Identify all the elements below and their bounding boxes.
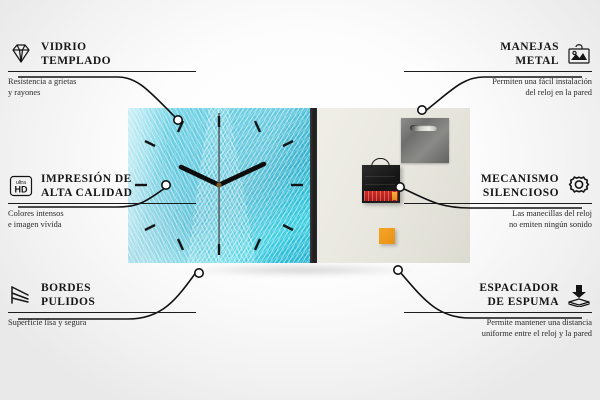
feature-title: ESPACIADOR DE ESPUMA <box>479 281 559 309</box>
feature-manejas-metal: MANEJAS METAL Permiten una fácil instala… <box>404 40 592 98</box>
feature-description: Colores intensos e imagen vívida <box>8 208 196 230</box>
diamond-icon <box>8 42 34 66</box>
ultra-hd-icon: ultra HD <box>8 174 34 198</box>
feature-description: Resistencia a grietas y rayones <box>8 76 196 98</box>
feature-description: Permite mantener una distancia uniforme … <box>404 317 592 339</box>
feature-head: MECANISMO SILENCIOSO <box>404 172 592 200</box>
feature-head: ESPACIADOR DE ESPUMA <box>404 281 592 309</box>
feature-title: IMPRESIÓN DE ALTA CALIDAD <box>41 172 132 200</box>
foam-spacer <box>379 228 395 244</box>
feature-description: Superficie lisa y segura <box>8 317 196 328</box>
feature-title: MECANISMO SILENCIOSO <box>481 172 559 200</box>
feature-description: Las manecillas del reloj no emiten ningú… <box>404 208 592 230</box>
battery-compartment <box>364 191 398 201</box>
metal-hanger-plate <box>401 118 449 163</box>
feature-impresion-alta-calidad: ultra HD IMPRESIÓN DE ALTA CALIDAD Color… <box>8 172 196 230</box>
mechanism-detail <box>365 184 395 185</box>
feature-espaciador-espuma: ESPACIADOR DE ESPUMA Permite mantener un… <box>404 281 592 339</box>
feature-description: Permiten una fácil instalación del reloj… <box>404 76 592 98</box>
foam-spacer-icon <box>566 283 592 307</box>
feature-head: VIDRIO TEMPLADO <box>8 40 196 68</box>
feature-mecanismo-silencioso: MECANISMO SILENCIOSO Las manecillas del … <box>404 172 592 230</box>
wall-hanger-icon <box>566 42 592 66</box>
gear-icon <box>566 174 592 198</box>
feature-bordes-pulidos: BORDES PULIDOS Superficie lisa y segura <box>8 281 196 328</box>
feature-vidrio-templado: VIDRIO TEMPLADO Resistencia a grietas y … <box>8 40 196 98</box>
hanger-keyhole-slot <box>410 125 437 131</box>
hands-pivot <box>216 182 221 187</box>
feature-title: MANEJAS METAL <box>500 40 559 68</box>
feature-divider <box>404 312 592 313</box>
battery-terminal <box>392 192 397 200</box>
quartz-mechanism <box>362 165 400 203</box>
feature-divider <box>404 71 592 72</box>
feature-head: ultra HD IMPRESIÓN DE ALTA CALIDAD <box>8 172 196 200</box>
feature-divider <box>8 203 196 204</box>
feature-head: BORDES PULIDOS <box>8 281 196 309</box>
feature-divider <box>404 203 592 204</box>
clock-side-edge <box>310 108 317 263</box>
mechanism-detail <box>365 176 395 177</box>
feature-title: BORDES PULIDOS <box>41 281 95 309</box>
feature-title: VIDRIO TEMPLADO <box>41 40 111 68</box>
minute-hand <box>219 164 264 185</box>
feature-head: MANEJAS METAL <box>404 40 592 68</box>
feature-divider <box>8 71 196 72</box>
feature-divider <box>8 312 196 313</box>
svg-text:HD: HD <box>15 185 28 195</box>
mechanism-hanger-loop <box>371 158 390 168</box>
polished-edges-icon <box>8 283 34 307</box>
